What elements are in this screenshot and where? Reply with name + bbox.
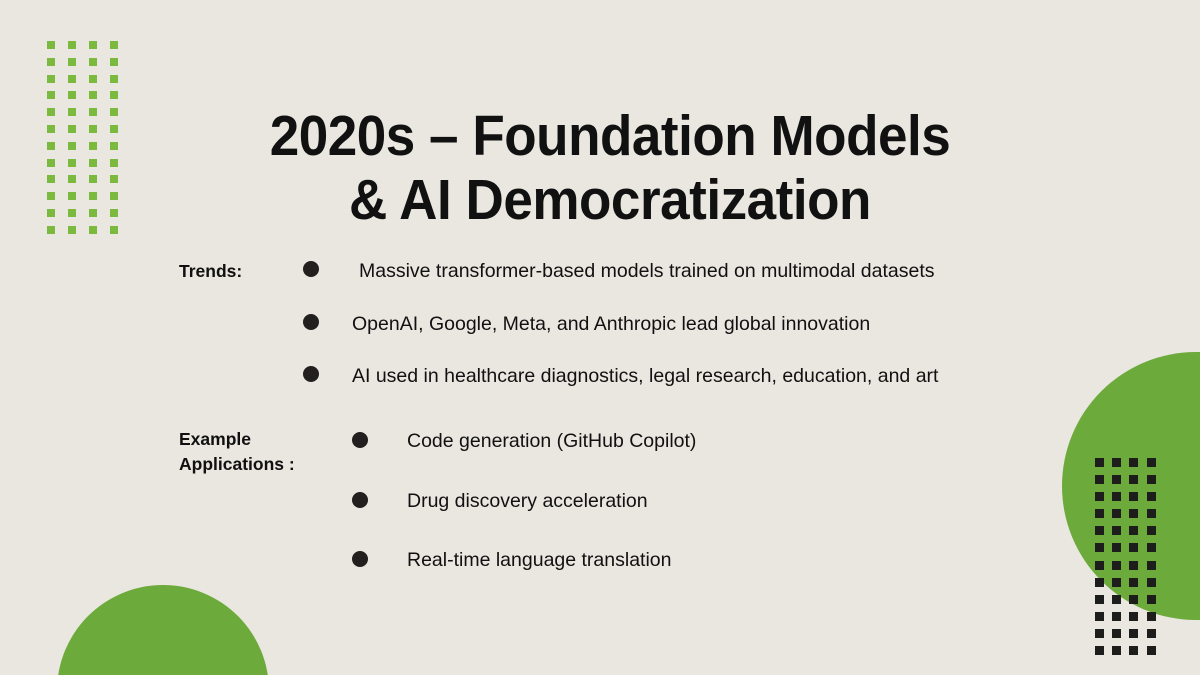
- bullet-item: OpenAI, Google, Meta, and Anthropic lead…: [303, 313, 870, 335]
- bullet-dot-icon: [352, 432, 368, 448]
- bullet-text: Code generation (GitHub Copilot): [407, 430, 696, 452]
- bullet-dot-icon: [303, 366, 319, 382]
- bullet-dot-icon: [303, 314, 319, 330]
- bullet-item: AI used in healthcare diagnostics, legal…: [303, 365, 938, 387]
- section-label-example-applications: Example Applications :: [179, 427, 311, 477]
- bullet-item: Code generation (GitHub Copilot): [352, 430, 696, 452]
- bullet-item: Drug discovery acceleration: [352, 490, 648, 512]
- bullet-text: Drug discovery acceleration: [407, 490, 648, 512]
- bullet-text: OpenAI, Google, Meta, and Anthropic lead…: [352, 313, 870, 335]
- bullet-dot-icon: [303, 261, 319, 277]
- bullet-item: Real-time language translation: [352, 549, 672, 571]
- bullet-text: Real-time language translation: [407, 549, 672, 571]
- bullet-dot-icon: [352, 551, 368, 567]
- bullet-dot-icon: [352, 492, 368, 508]
- bullet-text: Massive transformer-based models trained…: [359, 260, 935, 282]
- slide-body: Trends: Massive transformer-based models…: [0, 0, 1200, 675]
- slide-canvas: 2020s – Foundation Models & AI Democrati…: [0, 0, 1200, 675]
- section-label-trends: Trends:: [179, 259, 289, 284]
- bullet-text: AI used in healthcare diagnostics, legal…: [352, 365, 938, 387]
- bullet-item: Massive transformer-based models trained…: [303, 260, 935, 282]
